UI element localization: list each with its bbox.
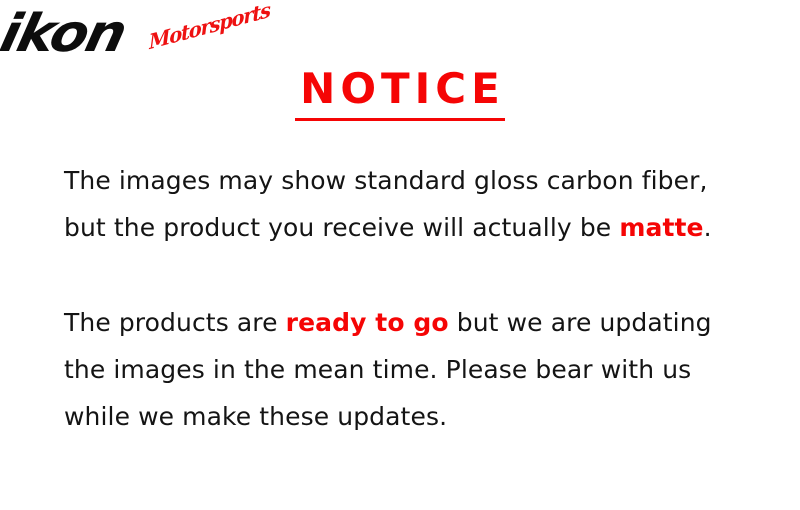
notice-paragraph-2: The products are ready to go but we are … xyxy=(64,299,754,440)
paragraph-spacer xyxy=(64,251,754,299)
notice-title-container: NOTICE xyxy=(0,66,800,121)
paragraph-2-text-lead: The products are xyxy=(64,308,286,337)
page-title: NOTICE xyxy=(295,66,505,121)
brand-wordmark-text: ikon xyxy=(0,6,130,62)
paragraph-1-text-lead: The images may show standard gloss carbo… xyxy=(64,166,708,242)
notice-paragraph-1: The images may show standard gloss carbo… xyxy=(64,157,754,251)
brand-logo: ikon Motorsports xyxy=(6,4,256,70)
paragraph-1-text-tail: . xyxy=(704,213,712,242)
notice-banner: ikon Motorsports NOTICE The images may s… xyxy=(0,0,800,510)
notice-body: The images may show standard gloss carbo… xyxy=(64,157,754,440)
paragraph-2-highlight: ready to go xyxy=(286,308,449,337)
brand-script-text: Motorsports xyxy=(148,0,270,52)
paragraph-1-highlight: matte xyxy=(619,213,703,242)
